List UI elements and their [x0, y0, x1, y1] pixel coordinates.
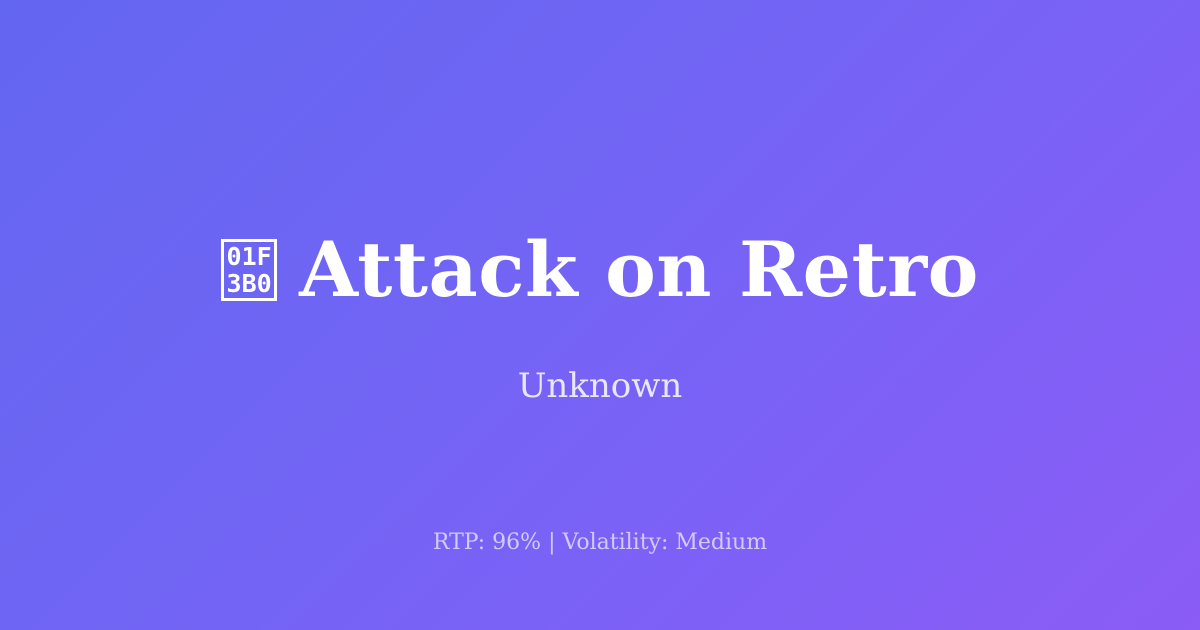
tofu-codepoint-low: 3B0 [227, 270, 272, 297]
tofu-codepoint-high: 01F [227, 243, 272, 270]
title-row: 01F 3B0 Attack on Retro [0, 227, 1200, 313]
og-preview-card: 01F 3B0 Attack on Retro Unknown RTP: 96%… [0, 0, 1200, 630]
page-title: Attack on Retro [299, 227, 979, 313]
slot-machine-icon: 01F 3B0 [221, 239, 277, 301]
provider-subtitle: Unknown [0, 364, 1200, 408]
game-stats-line: RTP: 96% | Volatility: Medium [0, 528, 1200, 558]
